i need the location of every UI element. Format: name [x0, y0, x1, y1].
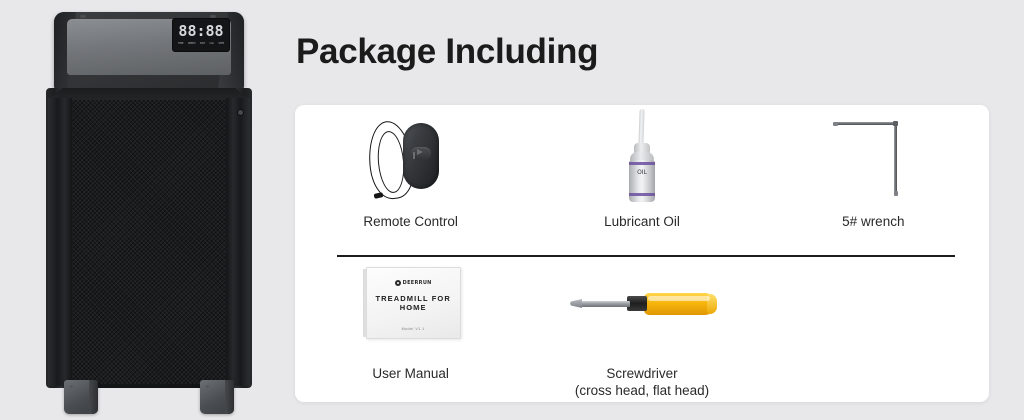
remote-lanyard-clip [373, 192, 383, 199]
wrench-tip-horizontal [833, 122, 838, 126]
deck-sensor-icon [238, 110, 243, 115]
treadmill-deck [46, 88, 252, 388]
wrench-long-arm [894, 123, 897, 195]
package-items-top-row: Remote Control OIL Lubricant Oil [295, 105, 989, 253]
package-items-bottom-row: DEERRUN TREADMILL FOR HOME MANUAL Model … [295, 257, 989, 402]
package-item-lubricant-oil: OIL Lubricant Oil [526, 105, 757, 253]
treadmill-console: 88:88 TIME SPEED DIST CAL STEP [54, 12, 244, 90]
remote-play-triangle [417, 149, 423, 155]
manual-cover-model: Model V1.1 [367, 327, 460, 331]
led-indicator-row: TIME SPEED DIST CAL STEP [177, 42, 225, 46]
led-indicator-step: STEP [218, 42, 224, 46]
screwdriver-collar [627, 296, 647, 311]
package-item-label-lubricant-oil: Lubricant Oil [604, 213, 680, 230]
page-title: Package Including [296, 30, 598, 74]
wrench-corner [893, 121, 898, 126]
allen-wrench-icon [823, 105, 923, 209]
foot-screw-right [206, 385, 209, 388]
wrench-art [758, 105, 989, 209]
package-item-wrench: 5# wrench [758, 105, 989, 253]
screwdriver-label-line2: (cross head, flat head) [575, 382, 709, 399]
screwdriver-label-line1: Screwdriver [575, 365, 709, 382]
led-indicator-cal: CAL [209, 42, 213, 46]
package-item-screwdriver: Screwdriver (cross head, flat head) [526, 257, 757, 402]
brand-mark-icon [395, 280, 401, 286]
treadmill-foot-right [200, 380, 234, 414]
remote-pause-bar [413, 152, 415, 159]
lubricant-oil-art: OIL [526, 105, 757, 209]
lubricant-oil-bottle-icon: OIL [612, 105, 672, 209]
screwdriver-handle-highlight [648, 296, 710, 301]
remote-body [403, 123, 439, 189]
wrench-short-arm [835, 122, 897, 125]
led-display: 88:88 TIME SPEED DIST CAL STEP [172, 18, 230, 52]
oil-bottle-stripe-top [629, 162, 655, 165]
deck-side-rail-right [226, 98, 250, 386]
package-item-label-wrench: 5# wrench [842, 213, 904, 230]
manual-brand-text: DEERRUN [403, 280, 432, 286]
running-belt [72, 100, 226, 384]
remote-control-icon [351, 105, 471, 209]
led-indicator-dist: DIST [200, 42, 205, 46]
screwdriver-art [526, 257, 757, 361]
package-item-label-user-manual: User Manual [372, 365, 449, 382]
package-contents-card: Remote Control OIL Lubricant Oil [295, 105, 989, 402]
screwdriver-icon [552, 257, 732, 361]
led-indicator-time: TIME [178, 42, 183, 46]
foot-edge-left [89, 380, 98, 414]
deck-side-rail-left [48, 98, 72, 386]
treadmill-product-image: 88:88 TIME SPEED DIST CAL STEP [44, 4, 254, 418]
package-item-label-remote-control: Remote Control [363, 213, 458, 230]
led-digits: 88:88 [177, 22, 225, 40]
foot-edge-right [225, 380, 234, 414]
screwdriver-tip [570, 299, 582, 308]
console-knob-left [80, 15, 86, 18]
treadmill-foot-left [64, 380, 98, 414]
user-manual-icon: DEERRUN TREADMILL FOR HOME MANUAL Model … [358, 257, 464, 361]
oil-bottle-nozzle [638, 109, 644, 147]
oil-bottle-label: OIL [633, 169, 651, 190]
package-item-label-screwdriver: Screwdriver (cross head, flat head) [575, 365, 709, 399]
screwdriver-shaft [580, 301, 630, 307]
package-item-remote-control: Remote Control [295, 105, 526, 253]
led-indicator-speed: SPEED [188, 42, 196, 46]
package-item-user-manual: DEERRUN TREADMILL FOR HOME MANUAL Model … [295, 257, 526, 402]
wrench-tip-vertical [894, 191, 898, 196]
foot-screw-left [70, 385, 73, 388]
manual-cover-subtitle: MANUAL [367, 306, 460, 310]
manual-cover: DEERRUN TREADMILL FOR HOME MANUAL Model … [366, 267, 461, 339]
remote-control-art [295, 105, 526, 209]
oil-bottle-stripe-bottom [629, 193, 655, 196]
package-items-empty-slot [758, 257, 989, 402]
user-manual-art: DEERRUN TREADMILL FOR HOME MANUAL Model … [295, 257, 526, 361]
manual-brand-logo: DEERRUN [367, 280, 460, 286]
